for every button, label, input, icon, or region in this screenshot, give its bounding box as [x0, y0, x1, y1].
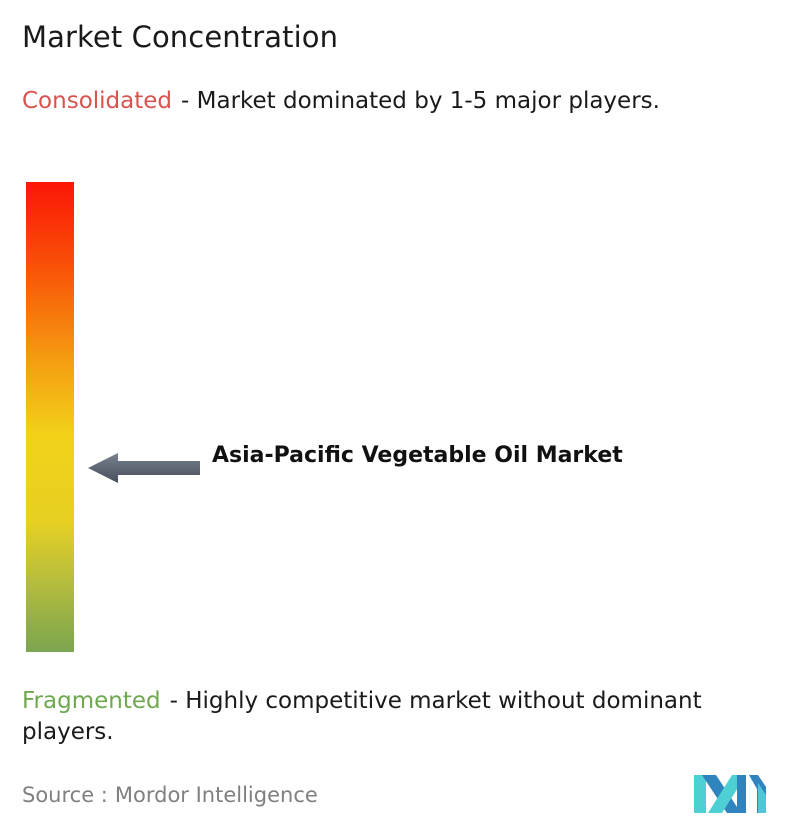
market-concentration-infographic: Market Concentration Consolidated- Marke… — [0, 0, 796, 834]
concentration-gradient-bar — [26, 182, 74, 652]
source-line: Source :Mordor Intelligence — [22, 782, 318, 808]
page-title: Market Concentration — [22, 20, 338, 54]
legend-consolidated: Consolidated- Market dominated by 1-5 ma… — [22, 86, 782, 117]
legend-consolidated-description: - Market dominated by 1-5 major players. — [181, 88, 660, 114]
callout-left-arrow-icon — [88, 452, 200, 484]
source-label: Source : — [22, 783, 108, 807]
mordor-intelligence-logo-icon — [694, 769, 766, 819]
legend-fragmented: Fragmented- Highly competitive market wi… — [22, 686, 782, 748]
callout-label: Asia-Pacific Vegetable Oil Market — [212, 441, 632, 471]
legend-consolidated-keyword: Consolidated — [22, 88, 172, 114]
legend-fragmented-keyword: Fragmented — [22, 688, 161, 714]
source-value: Mordor Intelligence — [115, 783, 318, 807]
